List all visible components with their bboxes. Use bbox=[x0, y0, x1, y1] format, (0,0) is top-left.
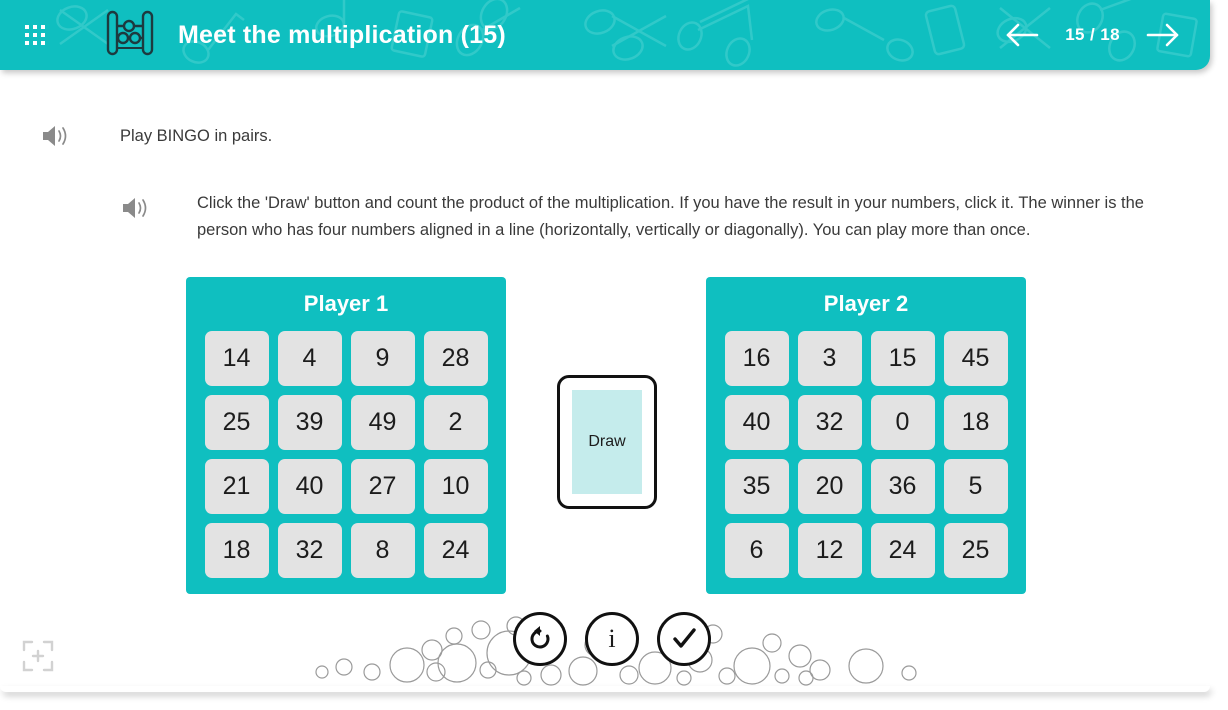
instruction-body: Click the 'Draw' button and count the pr… bbox=[197, 190, 1147, 244]
page-title: Meet the multiplication (15) bbox=[178, 21, 506, 50]
bingo-cell[interactable]: 2 bbox=[424, 395, 488, 450]
bingo-cell[interactable]: 27 bbox=[351, 459, 415, 514]
bingo-cell[interactable]: 39 bbox=[278, 395, 342, 450]
bingo-cell[interactable]: 49 bbox=[351, 395, 415, 450]
app-page: Meet the multiplication (15) 15 / 18 bbox=[0, 0, 1228, 710]
player-1-title: Player 1 bbox=[186, 291, 506, 317]
bingo-cell[interactable]: 18 bbox=[205, 523, 269, 578]
bingo-cell[interactable]: 5 bbox=[944, 459, 1008, 514]
player-2-grid: 16 3 15 45 40 32 0 18 35 20 36 5 6 12 24… bbox=[706, 331, 1026, 578]
bingo-cell[interactable]: 16 bbox=[725, 331, 789, 386]
bingo-cell[interactable]: 32 bbox=[798, 395, 862, 450]
bingo-cell[interactable]: 14 bbox=[205, 331, 269, 386]
bingo-cell[interactable]: 10 bbox=[424, 459, 488, 514]
header-navigation: 15 / 18 bbox=[1005, 22, 1180, 48]
reset-button[interactable] bbox=[513, 612, 567, 666]
bingo-cell[interactable]: 21 bbox=[205, 459, 269, 514]
bingo-cell[interactable]: 45 bbox=[944, 331, 1008, 386]
player-1-grid: 14 4 9 28 25 39 49 2 21 40 27 10 18 32 8… bbox=[186, 331, 506, 578]
bingo-cell[interactable]: 36 bbox=[871, 459, 935, 514]
bingo-cell[interactable]: 35 bbox=[725, 459, 789, 514]
speaker-icon[interactable] bbox=[120, 194, 150, 222]
speaker-icon[interactable] bbox=[40, 122, 70, 150]
bingo-cell[interactable]: 24 bbox=[424, 523, 488, 578]
abacus-logo-icon[interactable] bbox=[102, 8, 158, 63]
bingo-cell[interactable]: 25 bbox=[205, 395, 269, 450]
player-card-1: Player 1 14 4 9 28 25 39 49 2 21 40 27 1… bbox=[186, 277, 506, 594]
draw-button[interactable]: Draw bbox=[557, 375, 657, 509]
instruction-heading-row: Play BINGO in pairs. bbox=[40, 122, 272, 150]
player-2-title: Player 2 bbox=[706, 291, 1026, 317]
bingo-cell[interactable]: 32 bbox=[278, 523, 342, 578]
bingo-cell[interactable]: 28 bbox=[424, 331, 488, 386]
instruction-heading: Play BINGO in pairs. bbox=[120, 127, 272, 146]
slide-counter: 15 / 18 bbox=[1065, 25, 1120, 45]
bingo-cell[interactable]: 6 bbox=[725, 523, 789, 578]
check-button[interactable] bbox=[657, 612, 711, 666]
page-bottom-edge bbox=[0, 686, 1210, 692]
bingo-cell[interactable]: 15 bbox=[871, 331, 935, 386]
bingo-cell[interactable]: 0 bbox=[871, 395, 935, 450]
bingo-cell[interactable]: 20 bbox=[798, 459, 862, 514]
grid-menu-icon[interactable] bbox=[22, 22, 48, 48]
reset-arrow-icon bbox=[526, 625, 554, 653]
expand-fullscreen-icon[interactable] bbox=[22, 640, 54, 672]
bingo-cell[interactable]: 18 bbox=[944, 395, 1008, 450]
bingo-cell[interactable]: 4 bbox=[278, 331, 342, 386]
info-label: i bbox=[608, 624, 615, 654]
bingo-cell[interactable]: 3 bbox=[798, 331, 862, 386]
arrow-left-icon[interactable] bbox=[1005, 22, 1039, 48]
check-mark-icon bbox=[669, 624, 699, 654]
bingo-cell[interactable]: 40 bbox=[725, 395, 789, 450]
bingo-cell[interactable]: 8 bbox=[351, 523, 415, 578]
bingo-cell[interactable]: 9 bbox=[351, 331, 415, 386]
bingo-cell[interactable]: 24 bbox=[871, 523, 935, 578]
arrow-right-icon[interactable] bbox=[1146, 22, 1180, 48]
draw-button-label: Draw bbox=[572, 390, 642, 494]
app-header: Meet the multiplication (15) 15 / 18 bbox=[0, 0, 1210, 70]
info-button[interactable]: i bbox=[585, 612, 639, 666]
bingo-cell[interactable]: 40 bbox=[278, 459, 342, 514]
player-card-2: Player 2 16 3 15 45 40 32 0 18 35 20 36 … bbox=[706, 277, 1026, 594]
bingo-cell[interactable]: 25 bbox=[944, 523, 1008, 578]
bottom-toolbar: i bbox=[513, 612, 711, 666]
instruction-body-row: Click the 'Draw' button and count the pr… bbox=[120, 190, 1147, 244]
bingo-cell[interactable]: 12 bbox=[798, 523, 862, 578]
